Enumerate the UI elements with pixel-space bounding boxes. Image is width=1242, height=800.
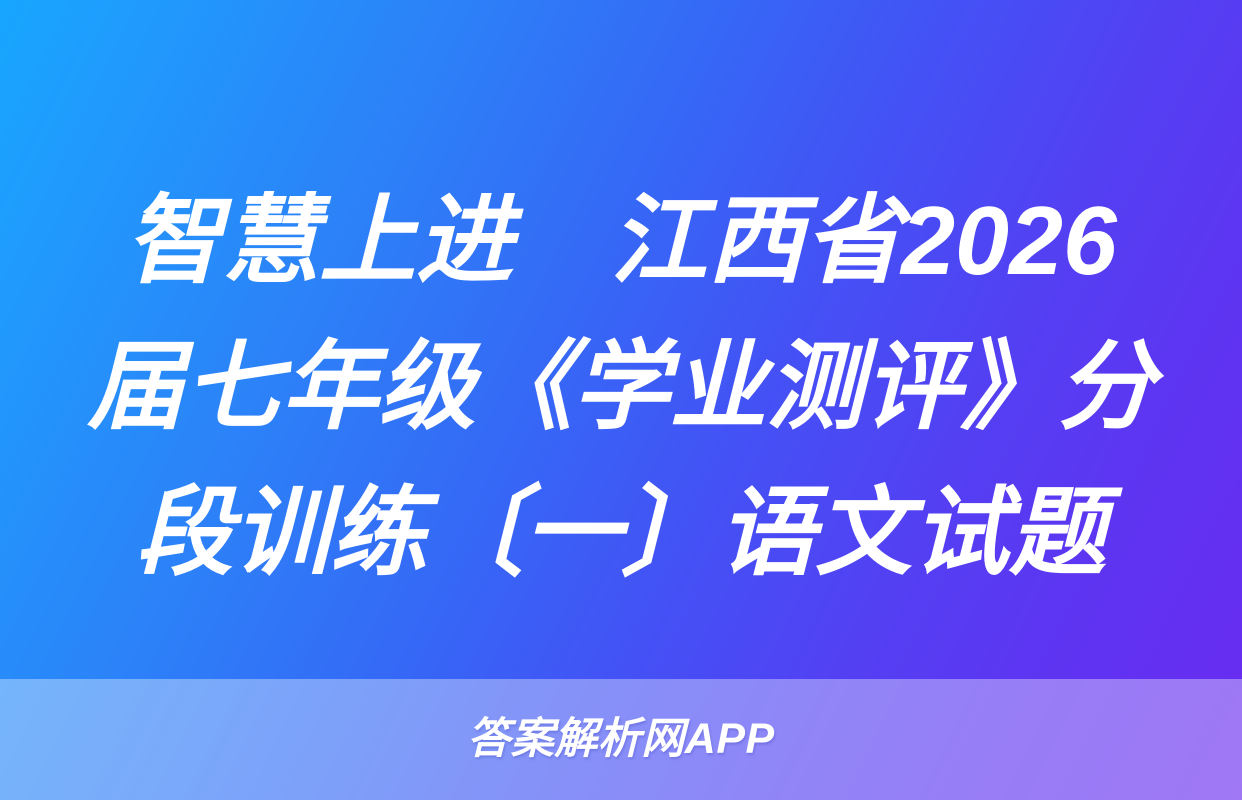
title-line-1: 智慧上进 江西省2026 — [84, 168, 1158, 314]
title-line-3: 段训练〔一〕语文试题 — [84, 460, 1158, 606]
footer-band: 答案解析网APP — [0, 679, 1242, 800]
app-watermark-label: 答案解析网APP — [467, 718, 774, 761]
title-line-2: 届七年级《学业测评》分 — [84, 314, 1158, 460]
poster-title: 智慧上进 江西省2026 届七年级《学业测评》分 段训练〔一〕语文试题 — [0, 168, 1242, 606]
poster-canvas: 智慧上进 江西省2026 届七年级《学业测评》分 段训练〔一〕语文试题 答案解析… — [0, 0, 1242, 800]
